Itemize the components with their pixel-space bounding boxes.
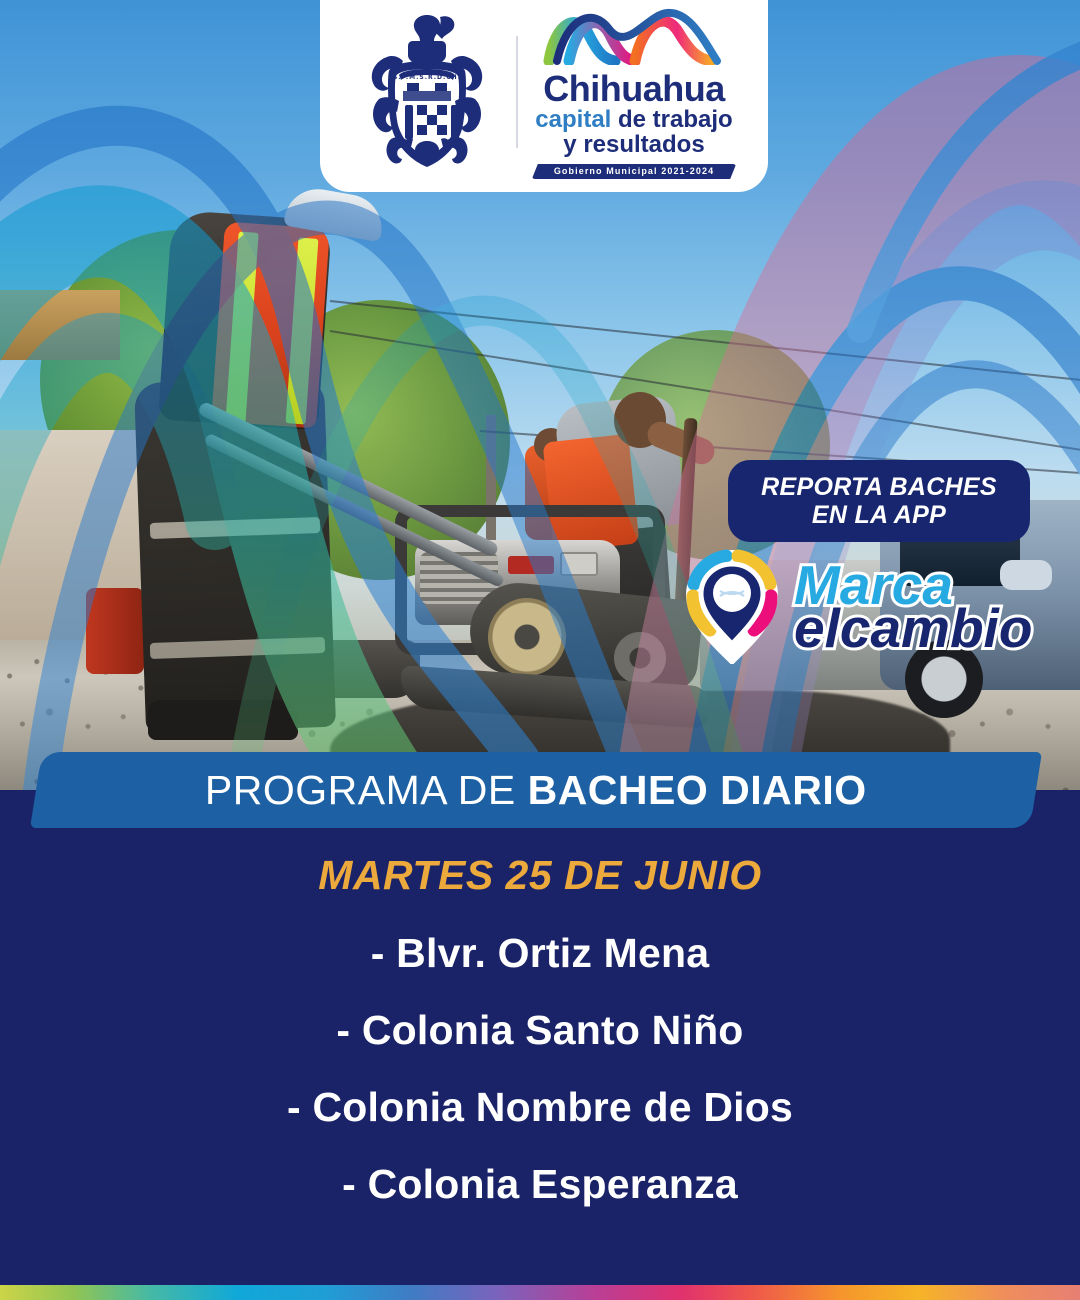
engine-plate	[560, 552, 598, 576]
schedule-date: MARTES 25 DE JUNIO	[318, 852, 761, 899]
brand-capital-word: capital	[535, 106, 611, 133]
coat-of-arms-icon: S.P.M.S.R.D.CH.	[352, 13, 502, 171]
worker-boot	[148, 700, 298, 740]
wood-beam	[0, 290, 120, 360]
marca-el-cambio-logo[interactable]: Marca elcambio	[676, 548, 1048, 666]
secondary-pulley	[614, 632, 666, 684]
app-badge-line-1: REPORTA BACHES	[761, 473, 997, 501]
app-badge-line-2: EN LA APP	[812, 501, 946, 529]
list-item: - Blvr. Ortiz Mena	[371, 930, 710, 977]
municipal-logo-card: S.P.M.S.R.D.CH.	[320, 0, 768, 192]
schedule-items: - Blvr. Ortiz Mena - Colonia Santo Niño …	[0, 915, 1080, 1223]
poster-root: S.P.M.S.R.D.CH.	[0, 0, 1080, 1300]
red-barrel	[86, 588, 144, 674]
brand-line-1: Chihuahua	[543, 71, 725, 107]
program-title-banner: PROGRAMA DE BACHEO DIARIO	[30, 752, 1042, 828]
title-light-part: PROGRAMA DE	[205, 767, 528, 813]
brand-line-3: y resultados	[563, 133, 704, 157]
list-item: - Colonia Santo Niño	[336, 1007, 743, 1054]
app-report-badge[interactable]: REPORTA BACHES EN LA APP	[728, 460, 1030, 542]
bottom-gradient-bar	[0, 1285, 1080, 1300]
location-pin-icon	[676, 546, 788, 669]
brand-line-2-rest: de trabajo	[611, 106, 732, 133]
photo-background: S.P.M.S.R.D.CH.	[0, 0, 1080, 790]
svg-text:S.P.M.S.R.D.CH.: S.P.M.S.R.D.CH.	[393, 74, 461, 81]
chihuahua-brand: Chihuahua capital de trabajo y resultado…	[532, 5, 736, 179]
government-ribbon: Gobierno Municipal 2021-2024	[532, 164, 736, 179]
schedule-section: MARTES 25 DE JUNIO - Blvr. Ortiz Mena - …	[0, 830, 1080, 1280]
list-item: - Colonia Nombre de Dios	[287, 1084, 793, 1131]
marca-wordmark: Marca elcambio	[794, 562, 1032, 653]
marca-word-2: elcambio	[794, 605, 1032, 652]
brand-line-2: capital de trabajo	[535, 108, 732, 132]
title-bold-part: BACHEO DIARIO	[528, 767, 867, 813]
program-title-text: PROGRAMA DE BACHEO DIARIO	[205, 767, 867, 814]
brand-wave-icon	[543, 5, 725, 69]
engine-label	[508, 556, 554, 574]
list-item: - Colonia Esperanza	[342, 1161, 738, 1208]
logo-divider	[516, 36, 518, 148]
